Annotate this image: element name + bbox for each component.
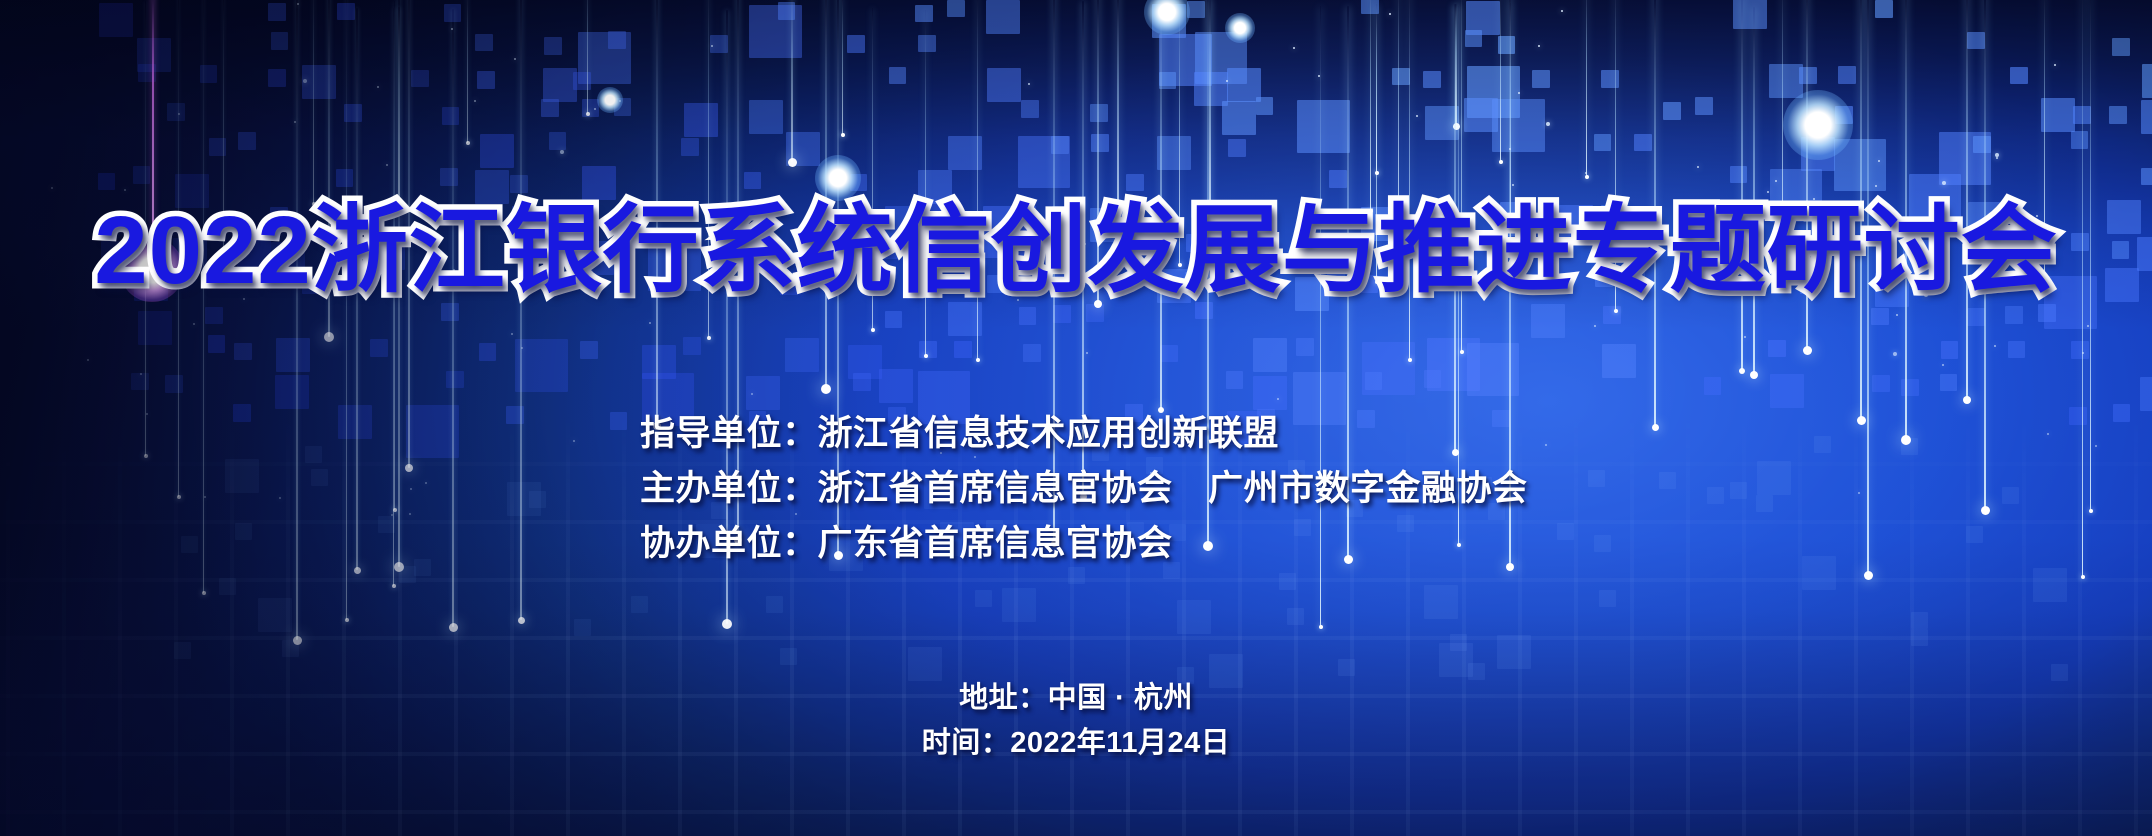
event-banner: 2022浙江银行系统信创发展与推进专题研讨会 指导单位：浙江省信息技术应用创新联… — [0, 0, 2152, 836]
organizer-line-host: 主办单位：浙江省首席信息官协会 广州市数字金融协会 — [640, 461, 1528, 516]
banner-content: 2022浙江银行系统信创发展与推进专题研讨会 指导单位：浙江省信息技术应用创新联… — [0, 0, 2152, 836]
event-date: 时间：2022年11月24日 — [0, 721, 2152, 766]
organizer-line-guidance: 指导单位：浙江省信息技术应用创新联盟 — [640, 406, 1528, 461]
page-title: 2022浙江银行系统信创发展与推进专题研讨会 — [0, 196, 2152, 306]
event-details-block: 地址：中国 · 杭州 时间：2022年11月24日 — [0, 676, 2152, 766]
organizer-block: 指导单位：浙江省信息技术应用创新联盟 主办单位：浙江省首席信息官协会 广州市数字… — [640, 406, 1528, 571]
event-address: 地址：中国 · 杭州 — [0, 676, 2152, 721]
organizer-line-coorganizer: 协办单位：广东省首席信息官协会 — [640, 516, 1528, 571]
